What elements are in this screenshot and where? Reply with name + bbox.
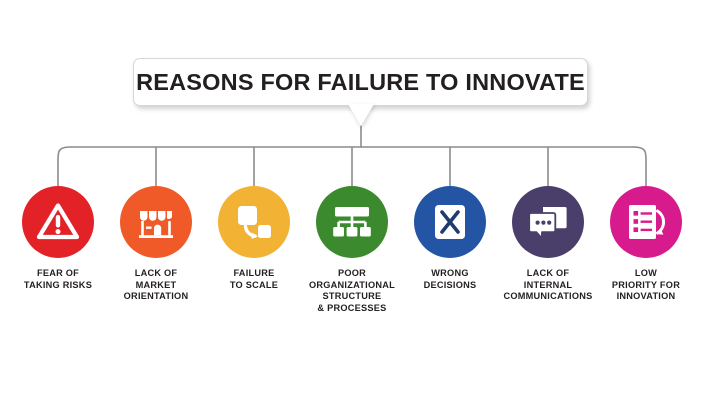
org-chart-icon: [330, 200, 374, 244]
reason-label: POOR ORGANIZATIONAL STRUCTURE & PROCESSE…: [309, 268, 395, 314]
reason-label: FAILURE TO SCALE: [230, 268, 278, 291]
icon-circle-wrong-decisions: [414, 186, 486, 258]
icon-circle-fear-of-taking-risks: [22, 186, 94, 258]
title-callout: REASONS FOR FAILURE TO INNOVATE: [133, 58, 588, 106]
reason-label: LACK OF INTERNAL COMMUNICATIONS: [503, 268, 592, 303]
icon-circle-low-priority-for-innovation: [610, 186, 682, 258]
resize-squares-arrow-icon: [232, 200, 276, 244]
speech-bubbles-icon: [526, 200, 570, 244]
reason-label: WRONG DECISIONS: [424, 268, 477, 291]
reason-label: LOW PRIORITY FOR INNOVATION: [612, 268, 680, 303]
warning-triangle-icon: [36, 200, 80, 244]
checklist-document-arrow-icon: [624, 200, 668, 244]
reason-label: LACK OF MARKET ORIENTATION: [124, 268, 189, 303]
reason-item-lack-of-market-orientation[interactable]: LACK OF MARKET ORIENTATION: [106, 186, 206, 303]
page-title: REASONS FOR FAILURE TO INNOVATE: [136, 69, 585, 96]
x-cross-box-icon: [428, 200, 472, 244]
icon-circle-poor-organizational-structure: [316, 186, 388, 258]
reason-item-failure-to-scale[interactable]: FAILURE TO SCALE: [204, 186, 304, 291]
icon-circle-lack-of-market-orientation: [120, 186, 192, 258]
icon-circle-lack-of-internal-communications: [512, 186, 584, 258]
infographic-canvas: REASONS FOR FAILURE TO INNOVATE FEAR OF …: [0, 0, 720, 404]
callout-tail-icon: [348, 104, 374, 126]
reason-label: FEAR OF TAKING RISKS: [24, 268, 92, 291]
reason-item-low-priority-for-innovation[interactable]: LOW PRIORITY FOR INNOVATION: [596, 186, 696, 303]
reason-item-wrong-decisions[interactable]: WRONG DECISIONS: [400, 186, 500, 291]
reason-item-fear-of-taking-risks[interactable]: FEAR OF TAKING RISKS: [8, 186, 108, 291]
reason-item-poor-organizational-structure[interactable]: POOR ORGANIZATIONAL STRUCTURE & PROCESSE…: [302, 186, 402, 314]
reason-item-lack-of-internal-communications[interactable]: LACK OF INTERNAL COMMUNICATIONS: [498, 186, 598, 303]
storefront-icon: [134, 200, 178, 244]
icon-circle-failure-to-scale: [218, 186, 290, 258]
